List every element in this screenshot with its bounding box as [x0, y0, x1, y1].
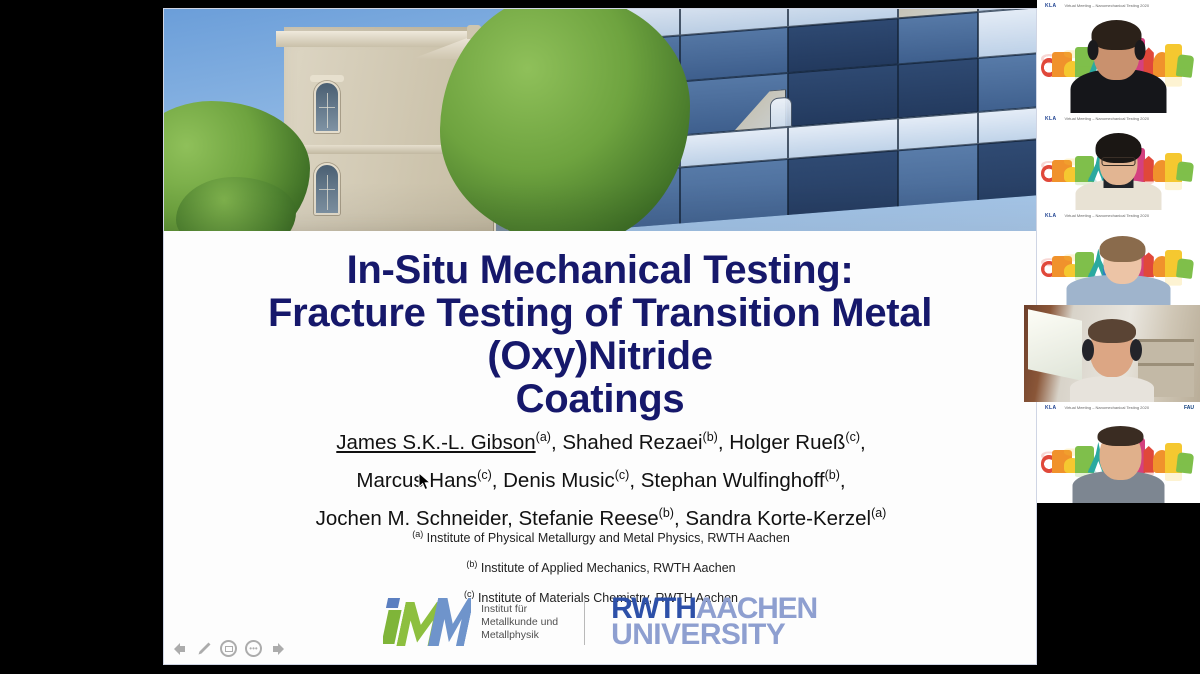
headphones-icon-4b: [1130, 339, 1142, 361]
participant-video-4: [1024, 305, 1200, 402]
affiliation-2: (b) Institute of Applied Mechanics, RWTH…: [188, 551, 1014, 581]
author-name-2-2: , Denis Music: [492, 469, 615, 492]
pen-icon[interactable]: [195, 640, 213, 658]
headphones-icon-1b: [1134, 40, 1145, 60]
participant-tile-3[interactable]: KLA Virtual Meeting – Nanomechanical Tes…: [1037, 210, 1200, 305]
frame-icon[interactable]: [220, 640, 238, 658]
author-affil-marker: (a): [536, 430, 551, 444]
imm-line-2: Metallkunde und: [481, 616, 558, 629]
participant-tile-2[interactable]: KLA Virtual Meeting – Nanomechanical Tes…: [1037, 113, 1200, 210]
arrow-left-icon[interactable]: [170, 640, 188, 658]
affiliation-marker: (b): [466, 559, 477, 569]
participant-video-1: [1037, 0, 1200, 113]
author-affil-marker: (c): [615, 468, 630, 482]
author-line-2: Marcus Hans(c), Denis Music(c), Stephan …: [188, 459, 1014, 497]
slide-title: In-Situ Mechanical Testing: Fracture Tes…: [178, 249, 1022, 421]
headphones-icon-1: [1087, 40, 1098, 60]
author-affil-marker: (c): [845, 430, 860, 444]
author-list: James S.K.-L. Gibson(a), Shahed Rezaei(b…: [188, 421, 1014, 534]
author-name-2-1: Marcus Hans: [356, 469, 477, 492]
slide-title-line-2: Fracture Testing of Transition Metal (Ox…: [178, 292, 1022, 378]
screen-share-region: In-Situ Mechanical Testing: Fracture Tes…: [163, 0, 1037, 667]
author-affil-marker: (c): [477, 468, 492, 482]
author-name-2-4: ,: [840, 469, 846, 492]
arrow-right-icon[interactable]: [270, 640, 288, 658]
affiliation-1: (a) Institute of Physical Metallurgy and…: [188, 521, 1014, 551]
author-name-1-1: James S.K.-L. Gibson: [336, 431, 535, 454]
glasses-icon-2: [1101, 157, 1135, 166]
imm-line-1: Institut für: [481, 603, 558, 616]
imm-logo: Institut für Metallkunde und Metallphysi…: [383, 596, 558, 648]
author-name-1-3: , Holger Rueß: [718, 431, 846, 454]
participant-hair-4: [1088, 319, 1136, 343]
participant-torso-4: [1070, 376, 1154, 402]
headphones-icon-4: [1082, 339, 1094, 361]
slide-title-line-1: In-Situ Mechanical Testing:: [178, 249, 1022, 292]
participant-hair-3: [1099, 236, 1145, 262]
imm-line-3: Metallphysik: [481, 629, 558, 642]
participant-tile-4[interactable]: [1024, 305, 1200, 402]
rwth-logo: RWTHAACHEN UNIVERSITY: [611, 596, 817, 649]
author-name-1-4: ,: [860, 431, 866, 454]
author-name-1-2: , Shahed Rezaei: [551, 431, 703, 454]
author-affil-marker: (a): [871, 506, 886, 520]
affiliation-text: Institute of Physical Metallurgy and Met…: [423, 531, 790, 545]
affiliation-marker: (a): [412, 529, 423, 539]
photo-shading: [164, 9, 1036, 231]
participant-video-2: [1037, 113, 1200, 210]
author-affil-marker: (b): [825, 468, 840, 482]
rwth-word-university: UNIVERSITY: [611, 622, 817, 648]
imm-logo-text: Institut für Metallkunde und Metallphysi…: [481, 603, 558, 642]
participant-hair-5: [1097, 426, 1143, 446]
participant-video-5: [1037, 402, 1200, 503]
participant-video-3: [1037, 210, 1200, 305]
participant-tile-5[interactable]: KLA Virtual Meeting – Nanomechanical Tes…: [1037, 402, 1200, 503]
presentation-slide[interactable]: In-Situ Mechanical Testing: Fracture Tes…: [163, 8, 1037, 665]
author-affil-marker: (b): [659, 506, 674, 520]
participant-tile-1[interactable]: KLA Virtual Meeting – Nanomechanical Tes…: [1037, 0, 1200, 113]
author-name-2-3: , Stephan Wulfinghoff: [629, 469, 824, 492]
author-affil-marker: (b): [703, 430, 718, 444]
slide-header-photo: [164, 9, 1036, 231]
logo-row: Institut für Metallkunde und Metallphysi…: [164, 591, 1036, 653]
imm-logo-mark: [383, 596, 471, 648]
logo-divider: [584, 599, 585, 645]
participant-strip: KLA Virtual Meeting – Nanomechanical Tes…: [1037, 0, 1200, 674]
author-line-1: James S.K.-L. Gibson(a), Shahed Rezaei(b…: [188, 421, 1014, 459]
presenter-toolbar[interactable]: •••: [170, 638, 288, 660]
affiliation-text: Institute of Applied Mechanics, RWTH Aac…: [477, 561, 735, 575]
ellipsis-icon[interactable]: •••: [245, 640, 263, 658]
slide-title-line-3: Coatings: [178, 378, 1022, 421]
